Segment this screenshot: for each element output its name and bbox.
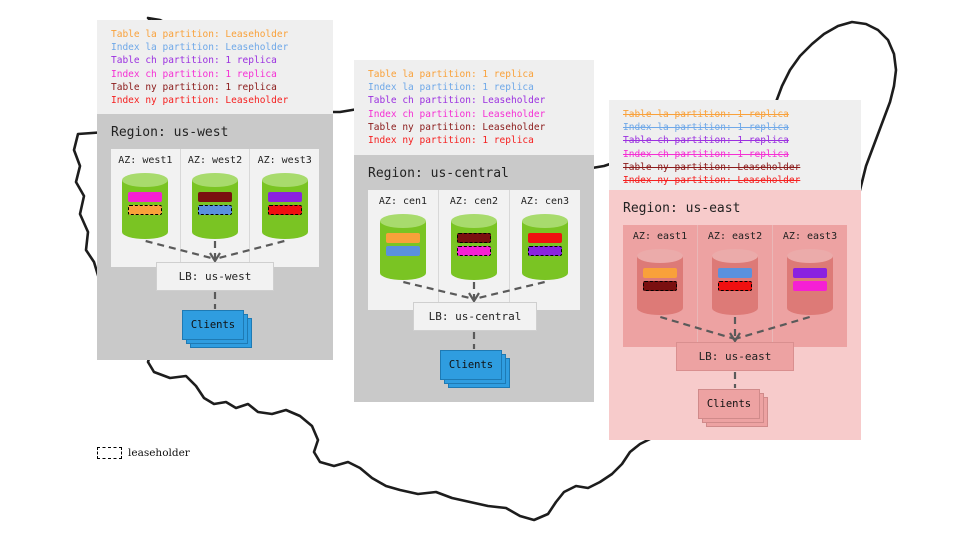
clients-label: Clients [449, 359, 493, 371]
index-la-bar[interactable] [718, 268, 752, 278]
az-label: AZ: cen1 [379, 196, 427, 207]
region-block-us-west: Table la partition: LeaseholderIndex la … [97, 20, 333, 360]
cylinder-top [787, 249, 833, 263]
clients-label: Clients [191, 319, 235, 331]
cylinder-top [712, 249, 758, 263]
table-ch-bar-leaseholder[interactable] [528, 246, 562, 256]
partition-status-line: Table la partition: 1 replica [368, 68, 584, 81]
az-label: AZ: west2 [188, 155, 242, 166]
partition-status-panel-us-west: Table la partition: LeaseholderIndex la … [97, 20, 333, 114]
replica-bars [128, 192, 162, 218]
cylinder-top [451, 214, 497, 228]
partition-status-line: Index ch partition: 1 replica [111, 68, 323, 81]
database-node-icon[interactable] [712, 249, 758, 315]
az-label: AZ: east1 [633, 231, 687, 242]
az-cell-west2[interactable]: AZ: west2 [180, 149, 250, 267]
clients-group-us-east: Clients [698, 389, 764, 423]
partition-status-line: Index la partition: 1 replica [623, 121, 851, 134]
cylinder-top [122, 173, 168, 187]
table-ch-bar[interactable] [793, 268, 827, 278]
partition-status-line: Table ch partition: 1 replica [623, 134, 851, 147]
index-la-bar-leaseholder[interactable] [198, 205, 232, 215]
az-label: AZ: cen3 [521, 196, 569, 207]
az-cell-east1[interactable]: AZ: east1 [623, 225, 697, 347]
clients-sheet-front[interactable]: Clients [182, 310, 244, 340]
clients-sheet-front[interactable]: Clients [440, 350, 502, 380]
replica-bars [386, 233, 420, 259]
region-title-us-central: Region: us-central [354, 155, 594, 190]
index-ch-bar[interactable] [128, 192, 162, 202]
database-node-icon[interactable] [522, 214, 568, 280]
az-strip-us-east: AZ: east1AZ: east2AZ: east3 [623, 225, 847, 347]
cylinder-top [262, 173, 308, 187]
index-ny-bar-leaseholder[interactable] [718, 281, 752, 291]
az-label: AZ: east2 [708, 231, 762, 242]
index-la-bar[interactable] [386, 246, 420, 256]
clients-stack[interactable]: Clients [182, 310, 248, 344]
index-ch-bar[interactable] [793, 281, 827, 291]
az-label: AZ: west3 [258, 155, 312, 166]
table-la-bar-leaseholder[interactable] [128, 205, 162, 215]
partition-status-line: Table ny partition: Leaseholder [623, 161, 851, 174]
partition-status-line: Table la partition: 1 replica [623, 108, 851, 121]
load-balancer-us-west[interactable]: LB: us-west [156, 262, 274, 291]
dashed-rectangle-icon [97, 447, 122, 459]
partition-status-panel-us-central: Table la partition: 1 replicaIndex la pa… [354, 60, 594, 155]
partition-status-line: Index la partition: 1 replica [368, 81, 584, 94]
region-title-us-east: Region: us-east [609, 190, 861, 225]
cylinder-top [192, 173, 238, 187]
clients-group-us-central: Clients [440, 350, 506, 384]
partition-status-line: Index ny partition: 1 replica [368, 134, 584, 147]
az-cell-cen3[interactable]: AZ: cen3 [509, 190, 580, 310]
database-node-icon[interactable] [787, 249, 833, 315]
cylinder-top [522, 214, 568, 228]
partition-status-line: Table ny partition: Leaseholder [368, 121, 584, 134]
diagram-canvas: Table la partition: LeaseholderIndex la … [0, 0, 960, 540]
clients-stack[interactable]: Clients [698, 389, 764, 423]
leaseholder-legend: leaseholder [97, 447, 190, 459]
database-node-icon[interactable] [262, 173, 308, 239]
table-ny-bar[interactable] [198, 192, 232, 202]
database-node-icon[interactable] [192, 173, 238, 239]
az-label: AZ: east3 [783, 231, 837, 242]
replica-bars [528, 233, 562, 259]
index-ny-bar[interactable] [528, 233, 562, 243]
az-cell-cen2[interactable]: AZ: cen2 [438, 190, 509, 310]
clients-sheet-front[interactable]: Clients [698, 389, 760, 419]
load-balancer-us-central[interactable]: LB: us-central [413, 302, 537, 331]
index-ny-bar-leaseholder[interactable] [268, 205, 302, 215]
replica-bars [718, 268, 752, 294]
partition-status-line: Table la partition: Leaseholder [111, 28, 323, 41]
clients-stack[interactable]: Clients [440, 350, 506, 384]
region-title-us-west: Region: us-west [97, 114, 333, 149]
partition-status-line: Index ny partition: Leaseholder [623, 174, 851, 187]
table-la-bar[interactable] [643, 268, 677, 278]
az-cell-east2[interactable]: AZ: east2 [697, 225, 772, 347]
az-cell-west1[interactable]: AZ: west1 [111, 149, 180, 267]
table-ny-bar-leaseholder[interactable] [457, 233, 491, 243]
clients-group-us-west: Clients [182, 310, 248, 344]
partition-status-panel-us-east: Table la partition: 1 replicaIndex la pa… [609, 100, 861, 190]
partition-status-line: Index la partition: Leaseholder [111, 41, 323, 54]
az-cell-east3[interactable]: AZ: east3 [772, 225, 847, 347]
database-node-icon[interactable] [451, 214, 497, 280]
partition-status-line: Table ny partition: 1 replica [111, 81, 323, 94]
replica-bars [643, 268, 677, 294]
replica-bars [268, 192, 302, 218]
az-cell-west3[interactable]: AZ: west3 [249, 149, 319, 267]
az-cell-cen1[interactable]: AZ: cen1 [368, 190, 438, 310]
partition-status-line: Table ch partition: 1 replica [111, 54, 323, 67]
index-ch-bar-leaseholder[interactable] [457, 246, 491, 256]
replica-bars [793, 268, 827, 294]
cylinder-top [380, 214, 426, 228]
partition-status-line: Table ch partition: Leaseholder [368, 94, 584, 107]
table-ny-bar-leaseholder[interactable] [643, 281, 677, 291]
leaseholder-legend-label: leaseholder [128, 447, 190, 459]
table-la-bar[interactable] [386, 233, 420, 243]
database-node-icon[interactable] [637, 249, 683, 315]
replica-bars [457, 233, 491, 259]
partition-status-line: Index ch partition: Leaseholder [368, 108, 584, 121]
partition-status-line: Index ny partition: Leaseholder [111, 94, 323, 107]
az-strip-us-west: AZ: west1AZ: west2AZ: west3 [111, 149, 319, 267]
database-node-icon[interactable] [380, 214, 426, 280]
replica-bars [198, 192, 232, 218]
load-balancer-us-east[interactable]: LB: us-east [676, 342, 794, 371]
az-label: AZ: west1 [118, 155, 172, 166]
clients-label: Clients [707, 398, 751, 410]
table-ch-bar[interactable] [268, 192, 302, 202]
cylinder-top [637, 249, 683, 263]
az-label: AZ: cen2 [450, 196, 498, 207]
database-node-icon[interactable] [122, 173, 168, 239]
partition-status-line: Index ch partition: 1 replica [623, 148, 851, 161]
az-strip-us-central: AZ: cen1AZ: cen2AZ: cen3 [368, 190, 580, 310]
